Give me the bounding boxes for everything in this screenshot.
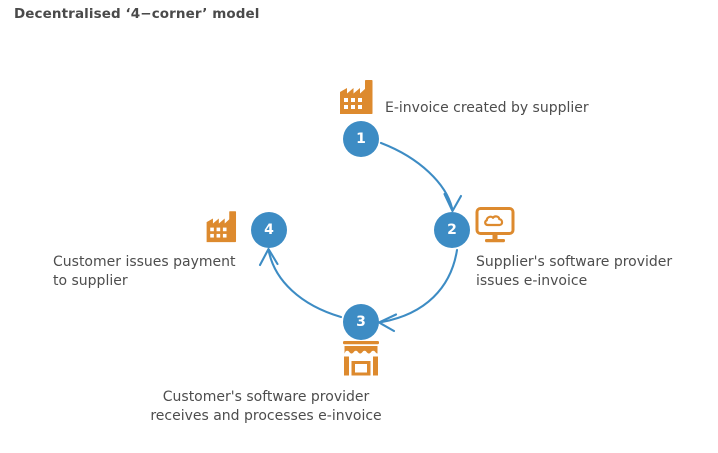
node-2-label: Supplier's software provider issues e-in… [476, 253, 672, 291]
arrow-2-to-3 [379, 250, 457, 331]
node-4[interactable]: 4 [251, 212, 287, 248]
arrow-1-to-2 [381, 143, 461, 211]
node-1[interactable]: 1 [343, 121, 379, 157]
arrows-layer [0, 0, 718, 453]
decentralised-4-corner-diagram: Decentralised ‘4−corner’ model [0, 0, 718, 453]
storefront-icon [339, 339, 383, 379]
arrow-3-to-4 [260, 249, 341, 317]
monitor-cloud-icon [473, 206, 517, 246]
factory-icon [203, 211, 241, 246]
node-3[interactable]: 3 [343, 304, 379, 340]
node-4-label: Customer issues payment to supplier [53, 253, 263, 291]
factory-icon [336, 80, 378, 118]
page-title: Decentralised ‘4−corner’ model [14, 6, 260, 22]
node-2[interactable]: 2 [434, 212, 470, 248]
node-3-label: Customer's software provider receives an… [131, 388, 401, 426]
node-1-label: E-invoice created by supplier [385, 99, 589, 118]
